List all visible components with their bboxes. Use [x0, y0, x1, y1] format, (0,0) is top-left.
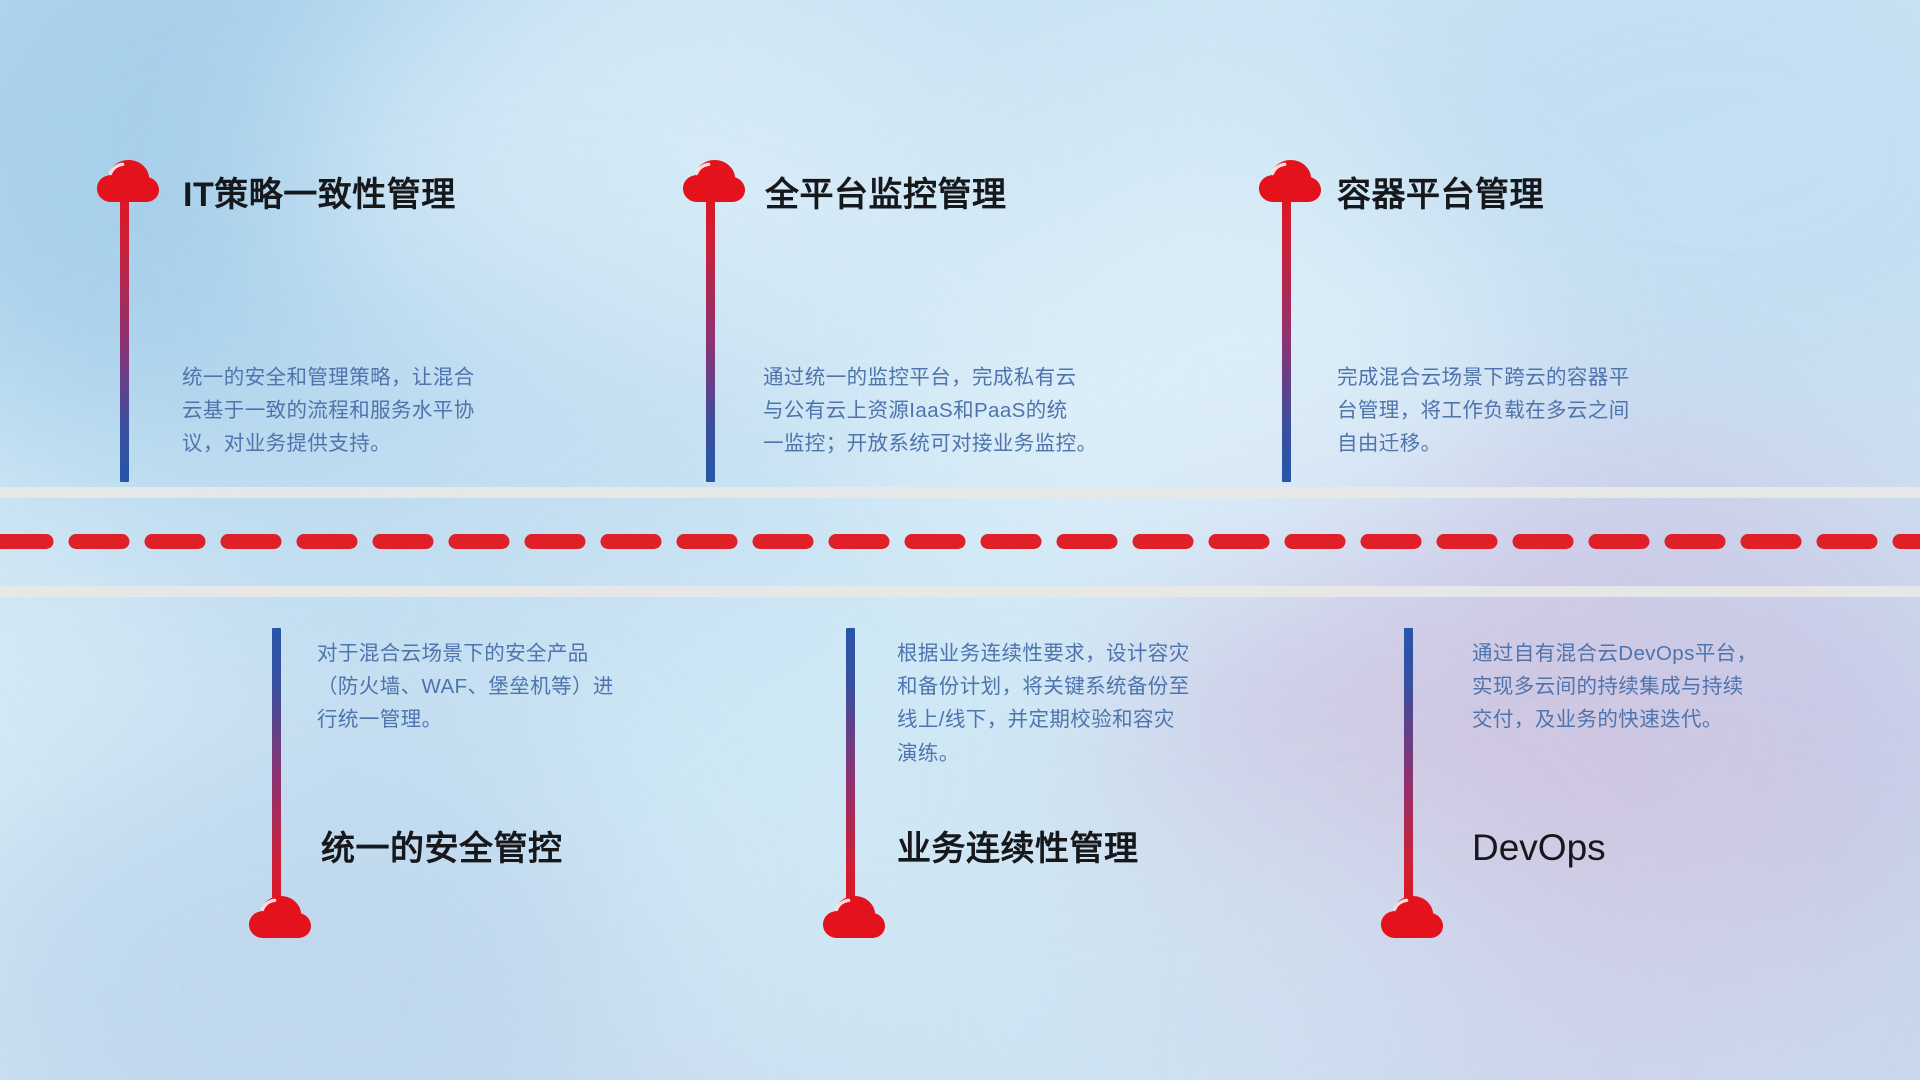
card-body: 根据业务连续性要求，设计容灾 和备份计划，将关键系统备份至 线上/线下，并定期校… — [897, 637, 1337, 770]
card-title: 统一的安全管控 — [321, 831, 563, 868]
card-body: 完成混合云场景下跨云的容器平 台管理，将工作负载在多云之间 自由迁移。 — [1337, 361, 1797, 461]
card-body: 对于混合云场景下的安全产品 （防火墙、WAF、堡垒机等）进 行统一管理。 — [317, 637, 757, 737]
connector-bar — [706, 182, 715, 482]
cloud-icon — [823, 894, 885, 940]
card-title: 业务连续性管理 — [897, 831, 1139, 868]
connector-bar — [272, 628, 281, 920]
connector-bar — [1282, 182, 1291, 482]
card-title: 容器平台管理 — [1337, 177, 1544, 214]
connector-bar — [1404, 628, 1413, 920]
connector-bar — [120, 182, 129, 482]
cloud-icon — [1259, 158, 1321, 204]
card-title: 全平台监控管理 — [765, 177, 1007, 214]
card-body: 通过统一的监控平台，完成私有云 与公有云上资源IaaS和PaaS的统 一监控；开… — [763, 361, 1243, 461]
infographic-stage: IT策略一致性管理 统一的安全和管理策略，让混合 云基于一致的流程和服务水平协 … — [0, 0, 1920, 1080]
card-body: 通过自有混合云DevOps平台， 实现多云间的持续集成与持续 交付，及业务的快速… — [1472, 637, 1902, 737]
connector-bar — [846, 628, 855, 920]
cloud-icon — [1381, 894, 1443, 940]
cloud-icon — [249, 894, 311, 940]
cloud-icon — [683, 158, 745, 204]
card-title: IT策略一致性管理 — [183, 177, 456, 214]
card-body: 统一的安全和管理策略，让混合 云基于一致的流程和服务水平协 议，对业务提供支持。 — [182, 361, 622, 461]
cloud-icon — [97, 158, 159, 204]
card-title: DevOps — [1472, 828, 1606, 869]
